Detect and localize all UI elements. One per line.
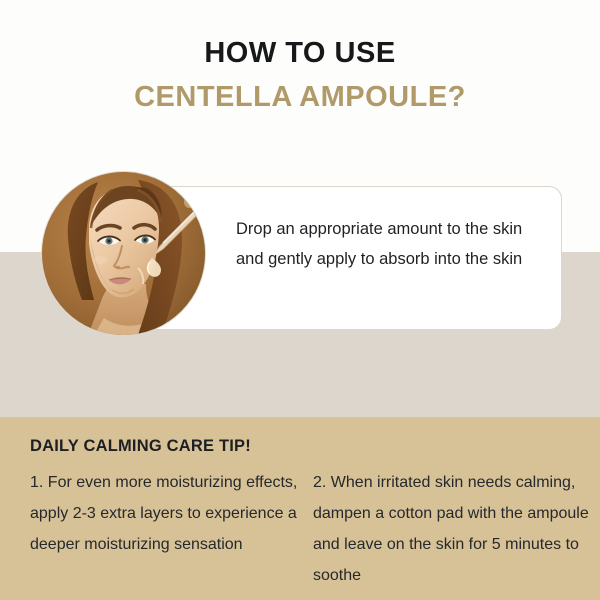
tip-section-title: DAILY CALMING CARE TIP!	[30, 437, 251, 456]
tip-item-2: 2. When irritated skin needs calming, da…	[313, 467, 593, 591]
page-title: HOW TO USE CENTELLA AMPOULE?	[0, 36, 600, 114]
instruction-card-text: Drop an appropriate amount to the skin a…	[236, 214, 546, 274]
page-title-line-1: HOW TO USE	[0, 36, 600, 70]
infographic-page: HOW TO USE CENTELLA AMPOULE? Drop an app…	[0, 0, 600, 600]
woman-applying-serum-dropper-photo	[42, 172, 205, 335]
tip-item-1: 1. For even more moisturizing effects, a…	[30, 467, 305, 560]
page-title-line-2: CENTELLA AMPOULE?	[0, 80, 600, 114]
